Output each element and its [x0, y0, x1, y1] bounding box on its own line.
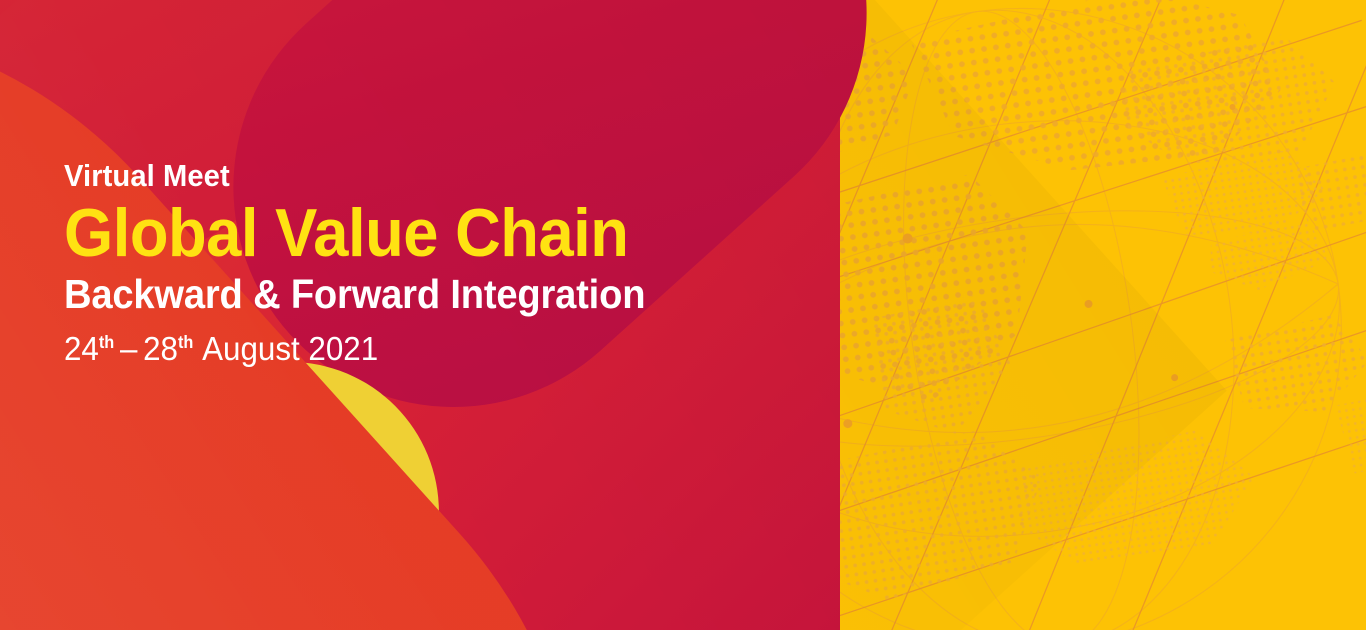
- date-separator: –: [114, 330, 143, 367]
- month-year-value: August 2021: [202, 330, 378, 367]
- banner-title: Global Value Chain: [64, 199, 659, 267]
- banner-subtitle: Backward & Forward Integration: [64, 273, 659, 316]
- banner-date-range: 24th–28th August 2021: [64, 332, 672, 367]
- banner-kicker: Virtual Meet: [64, 160, 666, 193]
- event-banner: Virtual Meet Global Value Chain Backward…: [0, 0, 1366, 630]
- end-day: 28: [143, 330, 178, 367]
- banner-text-block: Virtual Meet Global Value Chain Backward…: [64, 160, 704, 366]
- start-day: 24: [64, 330, 99, 367]
- start-day-suffix: th: [99, 332, 114, 352]
- end-day-suffix: th: [178, 332, 193, 352]
